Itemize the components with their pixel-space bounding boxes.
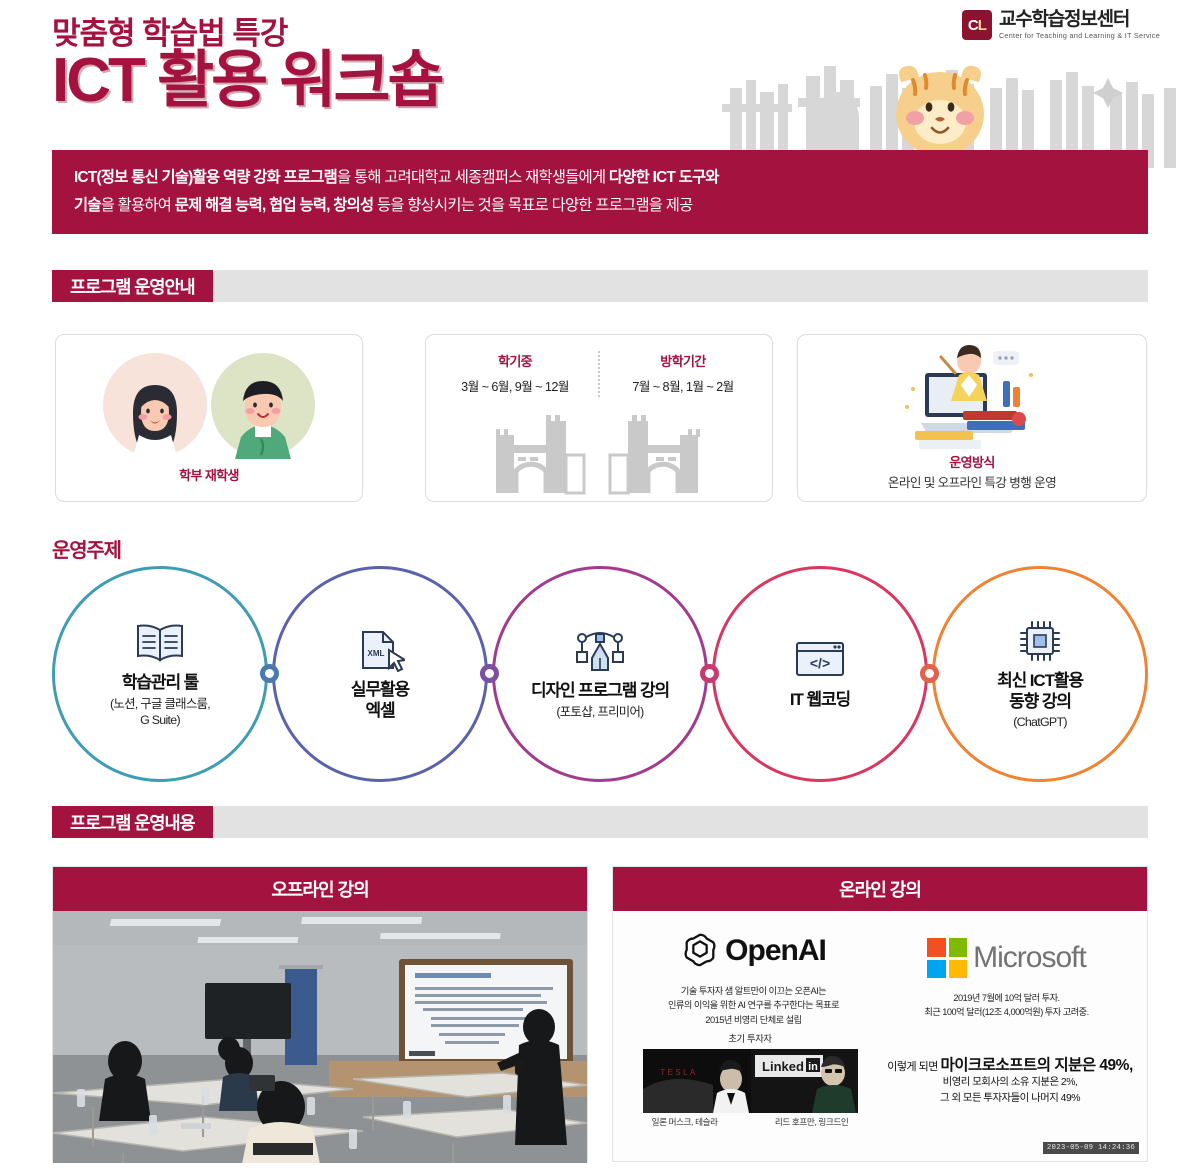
- early-investors-photo: TESLA Linked in: [643, 1049, 858, 1113]
- openai-logo-icon: [681, 930, 719, 973]
- panel-online-lecture-head: 온라인 강의: [613, 867, 1147, 911]
- poster-title: ICT 활용 워크숍: [52, 48, 442, 113]
- panel-online-lecture: 온라인 강의 OpenAI: [612, 866, 1148, 1162]
- section-header-program-content-label: 프로그램 운영내용: [52, 806, 213, 838]
- code-window-icon: </>: [793, 637, 847, 683]
- intro-banner-line-1: ICT(정보 통신 기술)활용 역량 강화 프로그램을 통해 고려대학교 세종캠…: [74, 164, 1128, 192]
- card-target-audience: 학부 재학생: [55, 334, 363, 502]
- openai-brand-name: OpenAI: [725, 934, 826, 968]
- topics-title: 운영주제: [52, 534, 121, 563]
- schedule-divider: [598, 351, 600, 397]
- online-lower-row: 초기 투자자 TESLA: [613, 1027, 1147, 1128]
- ctl-logo-korean: 교수학습정보센터: [999, 10, 1160, 30]
- schedule-term-semester: 학기중 3월 ~ 6월, 9월 ~ 12월: [436, 351, 594, 395]
- brand-openai: OpenAI 기술 투자자 샘 알트만이 이끄는 오픈AI는 인류의 이익을 위…: [632, 927, 875, 1027]
- topic-circle-lms[interactable]: 학습관리 툴 (노션, 구글 클래스룸,G Suite): [52, 566, 268, 782]
- microsoft-description: 2019년 7월에 10억 달러 투자. 최근 100억 달러(12조 4,00…: [885, 991, 1128, 1020]
- topic-circle-webcoding-title: IT 웹코딩: [790, 689, 850, 710]
- topic-connector-node-1: [260, 664, 279, 683]
- microsoft-brand-name: Microsoft: [973, 941, 1086, 975]
- topic-connector-node-2: [480, 664, 499, 683]
- topic-circle-excel-title: 실무활용엑셀: [351, 679, 409, 722]
- ctl-logo-english: Center for Teaching and Learning & IT Se…: [999, 32, 1160, 40]
- info-cards: 학부 재학생 학기중 3월 ~ 6월, 9월 ~ 12월 방학기간 7월 ~ 8…: [55, 334, 1147, 502]
- ownership-line-2: 비영리 모회사의 소유 지분은 2%,: [883, 1075, 1137, 1092]
- capture-timestamp: 2023-05-09 14:24:36: [1043, 1142, 1139, 1154]
- topic-connector-node-4: [920, 664, 939, 683]
- ctl-logo-mark-icon: CL: [962, 10, 992, 40]
- schedule-term-vacation-value: 7월 ~ 8월, 1월 ~ 2월: [604, 376, 762, 395]
- offline-lecture-photo: [53, 911, 587, 1163]
- topic-connector-node-3: [700, 664, 719, 683]
- svg-text:XML: XML: [368, 649, 385, 658]
- investor-name-1: 일론 머스크, 테슬라: [652, 1116, 718, 1128]
- topic-circle-ict-trends[interactable]: 최신 ICT활용동향 강의 (ChatGPT): [932, 566, 1148, 782]
- panel-offline-lecture-head: 오프라인 강의: [53, 867, 587, 911]
- card-target-audience-label: 학부 재학생: [56, 465, 362, 484]
- early-investors-caption: 초기 투자자: [623, 1031, 877, 1045]
- svg-text:Linked: Linked: [762, 1059, 804, 1074]
- section-header-program-guide-label: 프로그램 운영안내: [52, 270, 213, 302]
- campus-gate-illustration: [474, 415, 724, 500]
- ctl-logo: CL 교수학습정보센터 Center for Teaching and Lear…: [962, 10, 1160, 40]
- card-delivery-mode-sub: 온라인 및 오프라인 특강 병행 운영: [798, 472, 1146, 491]
- svg-text:</>: </>: [810, 655, 830, 671]
- ownership-share-note: 이렇게 되면 마이크로소프트의 지분은 49%, 비영리 모회사의 소유 지분은…: [883, 1031, 1137, 1128]
- intro-banner-line-2: 기술을 활용하여 문제 해결 능력, 협업 능력, 창의성 등을 향상시키는 것…: [74, 192, 1128, 220]
- section-header-program-guide: 프로그램 운영안내: [52, 270, 1148, 302]
- poster-root: 맞춤형 학습법 특강 ICT 활용 워크숍 CL 교수학습정보센터 Center…: [0, 0, 1200, 1171]
- online-brand-logos: OpenAI 기술 투자자 샘 알트만이 이끄는 오픈AI는 인류의 이익을 위…: [613, 911, 1147, 1027]
- xml-file-cursor-icon: XML: [355, 627, 405, 673]
- schedule-term-semester-value: 3월 ~ 6월, 9월 ~ 12월: [436, 376, 594, 395]
- female-student-avatar-icon: [101, 351, 209, 459]
- schedule-term-vacation-title: 방학기간: [604, 351, 762, 370]
- card-schedule: 학기중 3월 ~ 6월, 9월 ~ 12월 방학기간 7월 ~ 8월, 1월 ~…: [425, 334, 773, 502]
- card-delivery-mode: 운영방식 온라인 및 오프라인 특강 병행 운영: [797, 334, 1147, 502]
- topic-circle-design-title: 디자인 프로그램 강의: [531, 680, 669, 701]
- online-teaching-illustration: [897, 345, 1047, 454]
- ownership-line-3: 그 외 모든 투자자들이 나머지 49%: [883, 1091, 1137, 1108]
- svg-text:in: in: [808, 1061, 818, 1073]
- early-investor-names: 일론 머스크, 테슬라 리드 호프만, 링크드인: [623, 1116, 877, 1128]
- schedule-term-vacation: 방학기간 7월 ~ 8월, 1월 ~ 2월: [604, 351, 762, 395]
- topic-circles: 학습관리 툴 (노션, 구글 클래스룸,G Suite) XML 실무활용엑셀: [52, 566, 1148, 782]
- panel-offline-lecture: 오프라인 강의: [52, 866, 588, 1162]
- openai-description: 기술 투자자 샘 알트만이 이끄는 오픈AI는 인류의 이익을 위한 AI 연구…: [632, 984, 875, 1027]
- male-student-avatar-icon: [209, 351, 317, 459]
- section-header-program-content: 프로그램 운영내용: [52, 806, 1148, 838]
- topic-circle-lms-title: 학습관리 툴: [122, 672, 198, 693]
- card-delivery-mode-label: 운영방식: [798, 452, 1146, 471]
- content-panels: 오프라인 강의: [52, 866, 1148, 1162]
- intro-banner: ICT(정보 통신 기술)활용 역량 강화 프로그램을 통해 고려대학교 세종캠…: [52, 150, 1148, 234]
- student-avatars: [101, 351, 317, 459]
- topic-circle-ict-trends-title: 최신 ICT활용동향 강의: [997, 670, 1083, 713]
- topic-circle-design[interactable]: 디자인 프로그램 강의 (포토샵, 프리미어): [492, 566, 708, 782]
- topic-circle-ict-trends-sub: (ChatGPT): [1013, 714, 1067, 730]
- poster-header: 맞춤형 학습법 특강 ICT 활용 워크숍 CL 교수학습정보센터 Center…: [0, 0, 1200, 250]
- brand-microsoft: Microsoft 2019년 7월에 10억 달러 투자. 최근 100억 달…: [885, 934, 1128, 1020]
- early-investors: 초기 투자자 TESLA: [623, 1031, 877, 1128]
- investor-name-2: 리드 호프만, 링크드인: [775, 1116, 849, 1128]
- schedule-term-semester-title: 학기중: [436, 351, 594, 370]
- topic-circle-excel[interactable]: XML 실무활용엑셀: [272, 566, 488, 782]
- topic-circle-webcoding[interactable]: </> IT 웹코딩: [712, 566, 928, 782]
- microsoft-logo-icon: [927, 938, 967, 978]
- open-book-icon: [134, 620, 186, 666]
- pen-tool-icon: [572, 628, 628, 674]
- svg-text:TESLA: TESLA: [660, 1068, 697, 1077]
- cpu-chip-icon: [1017, 618, 1063, 664]
- topic-circle-lms-sub: (노션, 구글 클래스룸,G Suite): [110, 696, 210, 728]
- topic-circle-design-sub: (포토샵, 프리미어): [556, 704, 643, 720]
- ownership-line-1: 이렇게 되면 마이크로소프트의 지분은 49%,: [883, 1053, 1137, 1075]
- schedule-terms: 학기중 3월 ~ 6월, 9월 ~ 12월 방학기간 7월 ~ 8월, 1월 ~…: [426, 351, 772, 397]
- logo-letter-c: C: [968, 17, 978, 34]
- logo-letter-l: L: [978, 17, 986, 34]
